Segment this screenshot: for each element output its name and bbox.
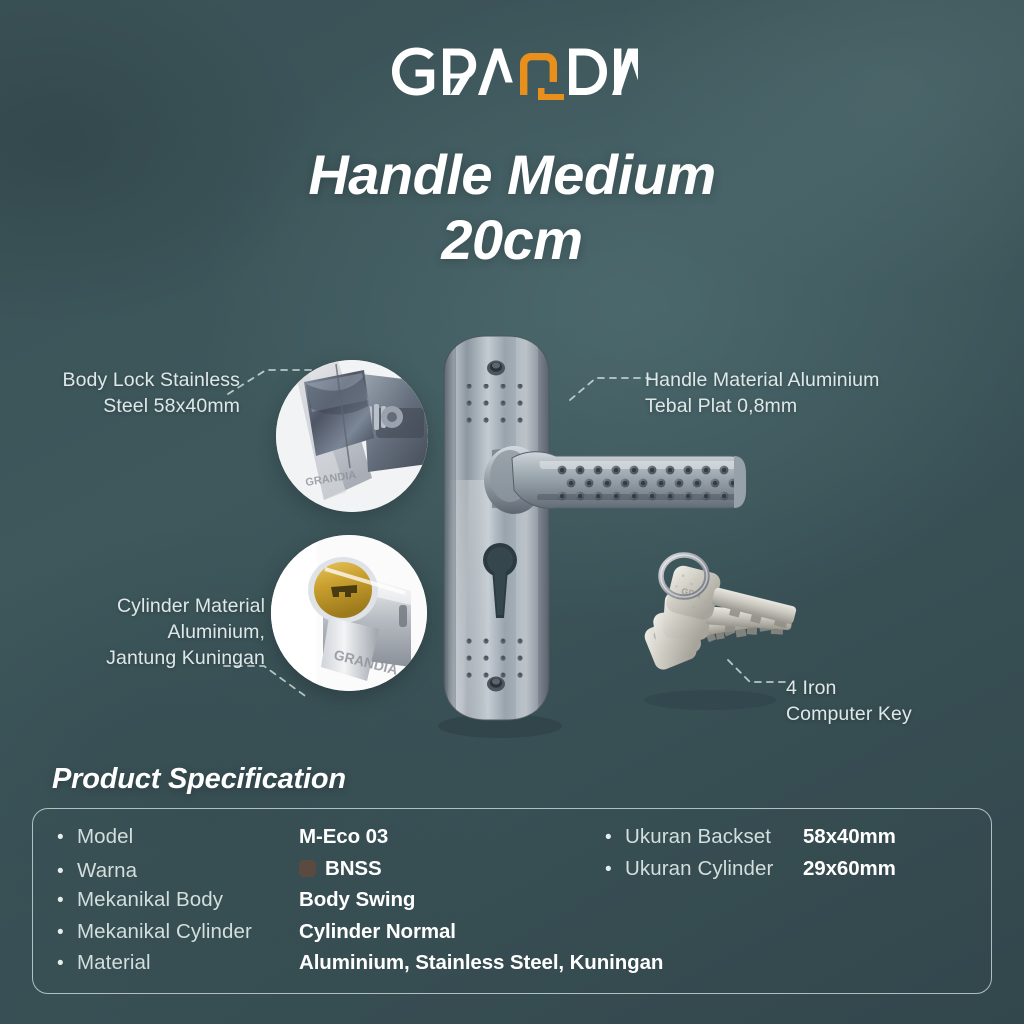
spec-heading: Product Specification	[52, 763, 346, 796]
spec-value: 58x40mm	[803, 825, 896, 849]
bullet-icon: •	[57, 923, 77, 942]
bullet-icon: •	[57, 862, 77, 881]
spec-key: Ukuran Backset	[625, 825, 803, 849]
annotation-cylinder-line3: Jantung Kuningan	[20, 646, 265, 672]
bullet-icon: •	[57, 954, 77, 973]
spec-value: BNSS	[299, 857, 382, 881]
spec-row-warna: • Warna BNSS	[57, 857, 617, 889]
spec-value-text: M-Eco 03	[299, 825, 388, 849]
spec-key: Warna	[77, 859, 299, 883]
spec-key: Material	[77, 951, 299, 975]
grandia-logo-mark	[386, 44, 638, 102]
spec-column-right: • Ukuran Backset 58x40mm • Ukuran Cylind…	[605, 825, 985, 888]
spec-row-material: • Material Aluminium, Stainless Steel, K…	[57, 951, 617, 983]
spec-value-text: 29x60mm	[803, 857, 896, 881]
spec-key: Mekanikal Body	[77, 888, 299, 912]
spec-value: 29x60mm	[803, 857, 896, 881]
spec-key: Ukuran Cylinder	[625, 857, 803, 881]
spec-value-text: 58x40mm	[803, 825, 896, 849]
annotation-keys-line1: 4 Iron	[786, 676, 976, 702]
annotation-cylinder-line2: Aluminium,	[20, 620, 265, 646]
annotation-cylinder-line1: Cylinder Material	[20, 594, 265, 620]
spec-value-text: BNSS	[325, 857, 382, 881]
title-line-1: Handle Medium	[308, 143, 715, 206]
annotation-cylinder-material: Cylinder Material Aluminium, Jantung Kun…	[20, 594, 265, 672]
product-poster: Handle Medium 20cm Body Lock Stainless S…	[0, 0, 1024, 1024]
inset-cylinder-photo: GRANDIA	[271, 535, 427, 691]
bullet-icon: •	[605, 860, 625, 879]
title-line-2: 20cm	[0, 208, 1024, 273]
page-title: Handle Medium 20cm	[0, 143, 1024, 273]
bullet-icon: •	[605, 828, 625, 847]
spec-row-mekanikal-cylinder: • Mekanikal Cylinder Cylinder Normal	[57, 920, 617, 952]
spec-value: M-Eco 03	[299, 825, 388, 849]
spec-row-ukuran-backset: • Ukuran Backset 58x40mm	[605, 825, 985, 857]
spec-value: Body Swing	[299, 888, 415, 912]
color-swatch-icon	[299, 860, 316, 877]
annotation-body-lock-line2: Steel 58x40mm	[20, 394, 240, 420]
annotation-body-lock: Body Lock Stainless Steel 58x40mm	[20, 368, 240, 420]
brand-logo	[0, 44, 1024, 102]
annotation-body-lock-line1: Body Lock Stainless	[20, 368, 240, 394]
annotation-keys: 4 Iron Computer Key	[786, 676, 976, 728]
spec-value-text: Aluminium, Stainless Steel, Kuningan	[299, 951, 663, 975]
bullet-icon: •	[57, 891, 77, 910]
spec-column-left: • Model M-Eco 03 • Warna BNSS •	[57, 825, 617, 983]
bullet-icon: •	[57, 828, 77, 847]
spec-box: • Model M-Eco 03 • Warna BNSS •	[32, 808, 992, 994]
annotation-keys-line2: Computer Key	[786, 702, 976, 728]
spec-value: Cylinder Normal	[299, 920, 456, 944]
spec-value-text: Body Swing	[299, 888, 415, 912]
inset-body-lock-photo: GRANDIA	[276, 360, 428, 512]
spec-value: Aluminium, Stainless Steel, Kuningan	[299, 951, 663, 975]
spec-row-ukuran-cylinder: • Ukuran Cylinder 29x60mm	[605, 857, 985, 889]
spec-key: Mekanikal Cylinder	[77, 920, 299, 944]
spec-key: Model	[77, 825, 299, 849]
spec-value-text: Cylinder Normal	[299, 920, 456, 944]
spec-row-model: • Model M-Eco 03	[57, 825, 617, 857]
spec-row-mekanikal-body: • Mekanikal Body Body Swing	[57, 888, 617, 920]
product-image-keys: GDA	[618, 528, 808, 718]
